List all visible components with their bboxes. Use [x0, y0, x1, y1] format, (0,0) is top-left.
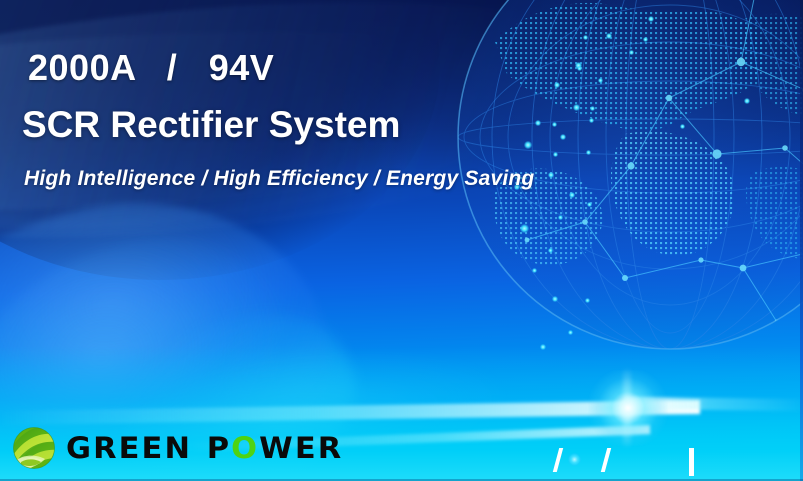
glow-dot	[744, 98, 750, 104]
glow-dot	[589, 118, 594, 123]
glow-dot	[606, 33, 612, 39]
mark-bar-1	[689, 448, 694, 476]
glow-dot	[540, 344, 546, 350]
logo-letter-p: P	[207, 431, 231, 465]
page-title: SCR Rectifier System	[22, 104, 400, 146]
logo-letter-o: O	[231, 431, 259, 465]
glow-dot	[583, 35, 588, 40]
glow-dot	[558, 215, 563, 220]
globe-leaf-svg	[12, 426, 56, 470]
glow-dot	[680, 124, 685, 129]
brand-logo-text: GREEN P O WER	[66, 431, 343, 465]
glow-dot	[548, 172, 554, 178]
glow-dot	[553, 152, 558, 157]
logo-word-green: GREEN	[66, 431, 192, 465]
green-globe-leaf-icon	[12, 426, 56, 470]
spec-line: 2000A / 94V	[28, 47, 274, 89]
glow-dot	[524, 141, 532, 149]
glow-dot	[586, 150, 591, 155]
glow-dot	[552, 296, 558, 302]
glow-dot	[569, 192, 575, 198]
glow-dot	[629, 50, 634, 55]
glow-dot	[598, 78, 603, 83]
starburst-glow	[588, 370, 668, 446]
glow-dot	[587, 202, 592, 207]
glow-dot	[590, 106, 595, 111]
glow-dot	[577, 66, 582, 71]
glow-dot	[532, 268, 537, 273]
glow-dot	[643, 37, 648, 42]
glow-dot	[554, 82, 560, 88]
glow-dot	[648, 16, 654, 22]
glow-dot	[552, 122, 557, 127]
glow-dot	[535, 120, 541, 126]
glow-dot	[568, 330, 573, 335]
glow-dot	[548, 248, 553, 253]
glow-dot	[585, 298, 590, 303]
glow-dot	[568, 453, 581, 466]
glow-dot	[560, 134, 566, 140]
brand-logo[interactable]: GREEN P O WER	[12, 426, 330, 470]
glow-dot	[520, 224, 529, 233]
product-banner: 2000A / 94V SCR Rectifier System High In…	[0, 0, 803, 481]
tagline: High Intelligence / High Efficiency / En…	[24, 167, 534, 191]
logo-word-wer: WER	[259, 431, 343, 465]
glow-dot	[573, 104, 580, 111]
